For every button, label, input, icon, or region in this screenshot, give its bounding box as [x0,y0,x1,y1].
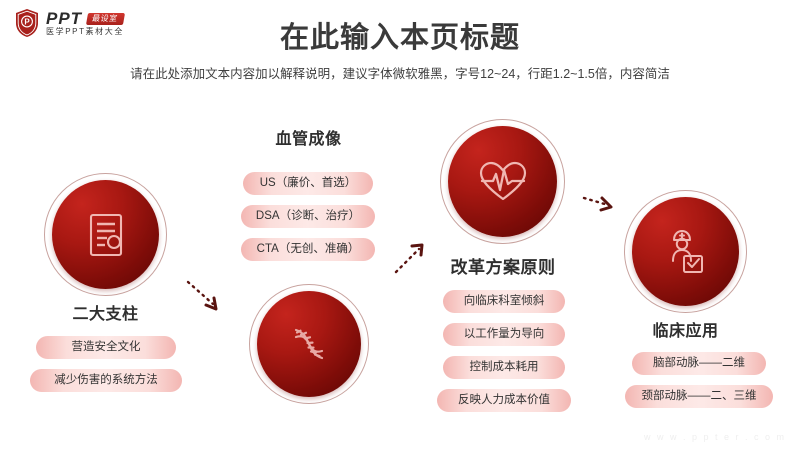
pill-item[interactable]: 减少伤害的系统方法 [30,369,182,392]
pill-item[interactable]: 以工作量为导向 [443,323,565,346]
slide-canvas: P PPT 最设室 医学PPT素材大全 在此输入本页标题 请在此处添加文本内容加… [0,0,800,450]
page-subtitle: 请在此处添加文本内容加以解释说明，建议字体微软雅黑，字号12~24，行距1.2~… [0,63,800,82]
arrow-up-right-icon [393,238,435,278]
group-title-two-pillars: 二大支柱 [44,300,167,324]
group-circle-clinical-application[interactable] [624,190,747,313]
pill-item[interactable]: 颈部动脉——二、三维 [625,385,773,408]
pill-item[interactable]: CTA（无创、准确） [241,238,375,261]
site-watermark: w w w . p p t e r . c o m [644,432,786,442]
group-title-reform-principles: 改革方案原则 [438,253,568,278]
pill-item[interactable]: 脑部动脉——二维 [632,352,766,375]
group-circle-reform-principles[interactable] [440,119,565,244]
pill-item[interactable]: 反映人力成本价值 [437,389,571,412]
pill-item[interactable]: 营造安全文化 [36,336,176,359]
group-title-vascular-imaging: 血管成像 [236,125,381,149]
group-circle-vascular-imaging[interactable] [249,284,369,404]
arrow-right-icon [582,190,628,220]
page-title: 在此输入本页标题 [0,14,800,56]
pill-item[interactable]: 向临床科室倾斜 [443,290,565,313]
pill-item[interactable]: 控制成本耗用 [443,356,565,379]
pill-item[interactable]: US（廉价、首选） [243,172,373,195]
group-circle-two-pillars[interactable] [44,173,167,296]
arrow-down-right-icon [186,279,228,317]
group-title-clinical-application: 临床应用 [624,317,747,341]
nurse-checklist-icon [632,197,739,306]
dna-icon [257,291,361,397]
heart-pulse-icon [448,126,557,237]
pill-item[interactable]: DSA（诊断、治疗） [241,205,375,228]
document-search-icon [52,180,159,289]
